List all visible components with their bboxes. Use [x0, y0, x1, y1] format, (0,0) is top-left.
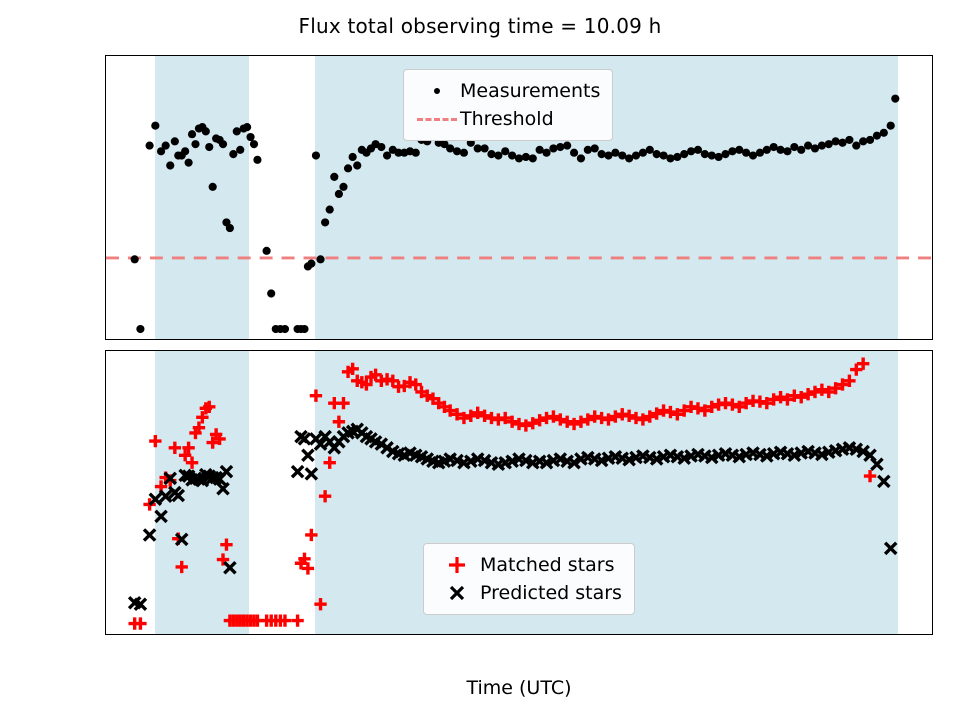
bottom-legend: Matched stars Predicted stars	[423, 543, 635, 615]
y-tick-mark	[105, 187, 106, 189]
legend-label-matched-stars: Matched stars	[480, 554, 614, 576]
legend-item-matched-stars: Matched stars	[434, 551, 622, 579]
y-tick-mark	[105, 116, 106, 118]
x-axis-label: Time (UTC)	[105, 677, 933, 699]
bottom-panel-count-plot: Count 100200300 18:0020:0022:0000:0002:0…	[105, 350, 933, 635]
top-legend: Measurements Threshold	[403, 69, 613, 141]
x-tick-mark	[174, 634, 176, 635]
x-tick-mark	[587, 634, 589, 635]
legend-label-predicted-stars: Predicted stars	[480, 582, 622, 604]
cross-marker-icon	[434, 582, 480, 604]
y-tick-mark	[105, 258, 106, 260]
y-tick-mark	[105, 560, 106, 562]
x-tick-mark	[862, 339, 864, 340]
x-tick-mark	[312, 339, 314, 340]
legend-label-measurements: Measurements	[460, 80, 600, 102]
x-tick-mark	[449, 339, 451, 340]
x-tick-mark	[862, 634, 864, 635]
x-tick-mark	[174, 339, 176, 340]
legend-label-threshold: Threshold	[460, 108, 554, 130]
y-tick-mark	[105, 411, 106, 413]
figure-canvas: Flux total observing time = 10.09 h Matc…	[0, 0, 960, 720]
plus-marker-icon	[434, 554, 480, 576]
legend-item-measurements: Measurements	[414, 77, 600, 105]
x-tick-mark	[312, 634, 314, 635]
figure-title: Flux total observing time = 10.09 h	[0, 14, 960, 38]
top-panel-ratio-plot: Matched/Predicted stars 0.00.51.01.5 Mea…	[105, 55, 933, 340]
x-tick-mark	[725, 339, 727, 340]
legend-item-predicted-stars: Predicted stars	[434, 579, 622, 607]
legend-item-threshold: Threshold	[414, 105, 600, 133]
dot-marker-icon	[414, 88, 460, 94]
x-tick-mark	[587, 339, 589, 340]
y-tick-mark	[105, 485, 106, 487]
dashed-line-icon	[414, 118, 460, 121]
x-tick-mark	[449, 634, 451, 635]
x-tick-mark	[725, 634, 727, 635]
y-tick-mark	[105, 329, 106, 331]
